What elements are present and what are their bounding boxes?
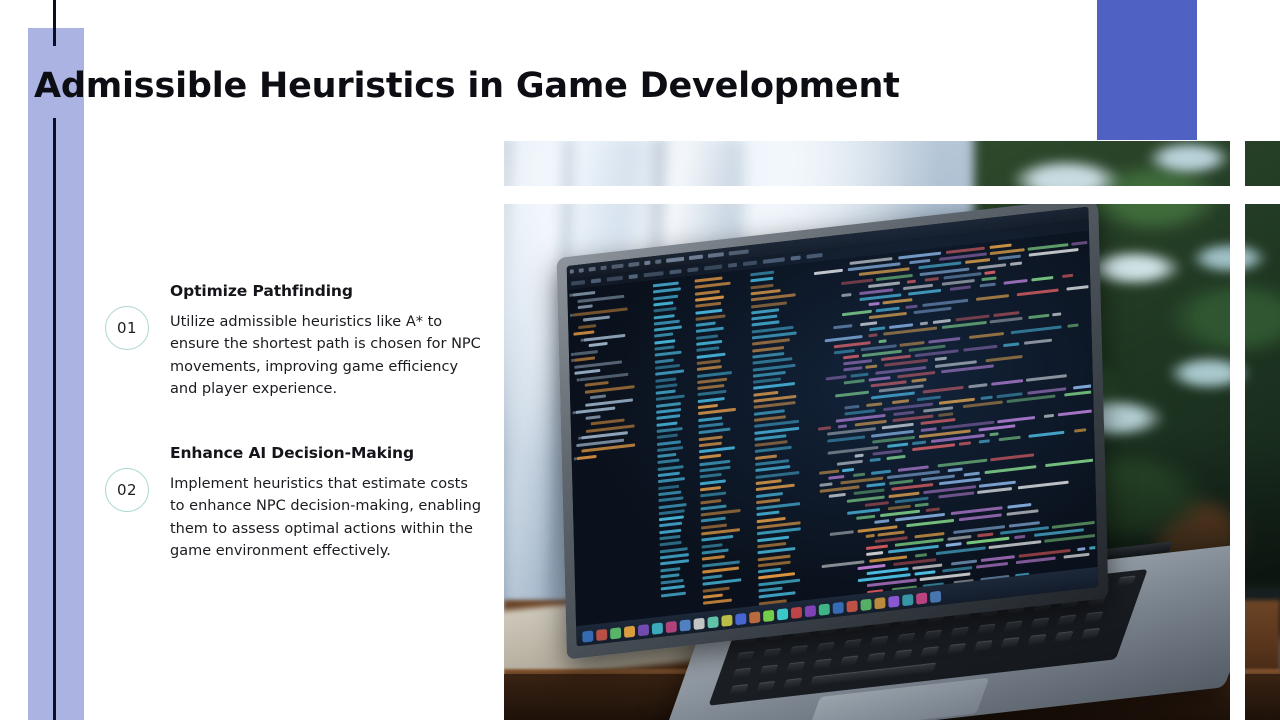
bullet-heading: Optimize Pathfinding	[170, 282, 505, 300]
photo-strip-top	[504, 141, 1230, 186]
vertical-rule-bottom	[53, 118, 56, 720]
list-item: 02 Enhance AI Decision-Making Implement …	[105, 444, 505, 562]
bullet-number-badge: 01	[105, 306, 149, 350]
photo-montage: MacBook Pro	[504, 138, 1280, 720]
photo-strip-right	[1245, 204, 1280, 720]
photo-scene	[1245, 204, 1280, 720]
editor-file-tree	[569, 281, 655, 626]
slide: Admissible Heuristics in Game Developmen…	[0, 0, 1280, 720]
photo-main: MacBook Pro	[504, 204, 1230, 720]
photo-scene	[1245, 141, 1280, 186]
editor-gutter-2	[692, 270, 754, 612]
bullet-content: Optimize Pathfinding Utilize admissible …	[170, 282, 505, 400]
editor-gutter-1	[651, 276, 700, 617]
plant-leaves	[974, 141, 1230, 186]
editor-body	[567, 231, 1097, 627]
vertical-rule-top	[53, 0, 56, 46]
photo-scene	[504, 141, 1230, 186]
window-frame-bars	[504, 141, 754, 186]
bullet-heading: Enhance AI Decision-Making	[170, 444, 505, 462]
plant-leaves	[1245, 141, 1280, 186]
laptop-lid	[556, 204, 1108, 660]
bullet-number-badge: 02	[105, 468, 149, 512]
bullet-list: 01 Optimize Pathfinding Utilize admissib…	[105, 282, 505, 606]
laptop-screen	[567, 207, 1099, 647]
bullet-body: Utilize admissible heuristics like A* to…	[170, 311, 485, 400]
top-right-color-block	[1097, 0, 1197, 140]
bullet-body: Implement heuristics that estimate costs…	[170, 473, 485, 562]
bullet-content: Enhance AI Decision-Making Implement heu…	[170, 444, 505, 562]
page-title: Admissible Heuristics in Game Developmen…	[34, 66, 900, 106]
photo-strip-top-right	[1245, 141, 1280, 186]
desk-front	[1245, 674, 1280, 720]
laptop: MacBook Pro	[532, 208, 1230, 720]
editor-gutter-3	[748, 263, 814, 606]
list-item: 01 Optimize Pathfinding Utilize admissib…	[105, 282, 505, 400]
photo-scene: MacBook Pro	[504, 204, 1230, 720]
editor-code-area	[810, 231, 1096, 599]
left-accent-bar	[28, 28, 84, 720]
